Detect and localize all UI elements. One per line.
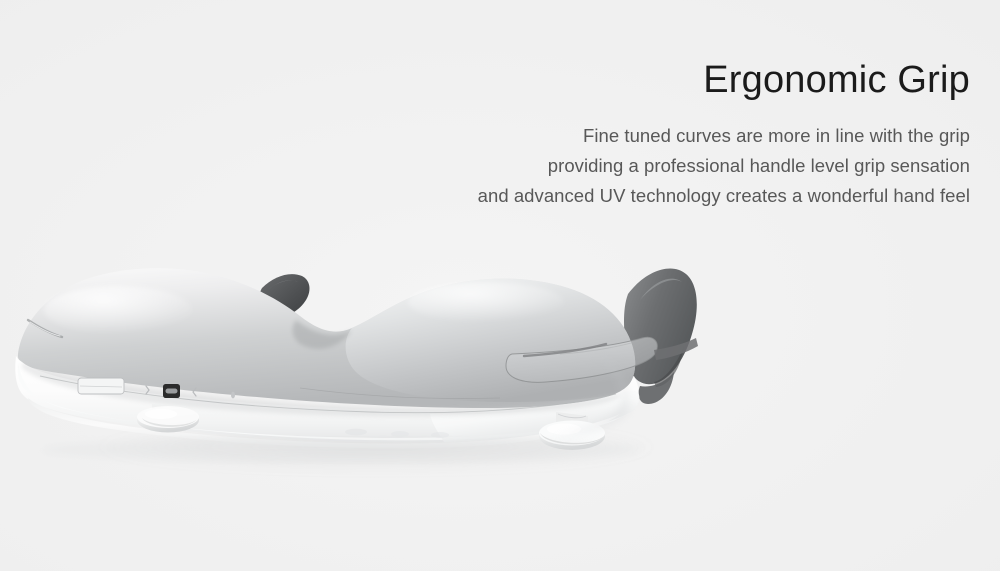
side-button-left[interactable] bbox=[78, 378, 124, 394]
product-image-game-controller bbox=[0, 236, 760, 506]
floor-reflection bbox=[40, 438, 640, 462]
description-line-3: and advanced UV technology creates a won… bbox=[330, 181, 970, 211]
description-line-1: Fine tuned curves are more in line with … bbox=[330, 121, 970, 151]
copy-block: Ergonomic Grip Fine tuned curves are mor… bbox=[330, 58, 970, 211]
description-line-2: providing a professional handle level gr… bbox=[330, 151, 970, 181]
product-feature-banner: Ergonomic Grip Fine tuned curves are mor… bbox=[0, 0, 1000, 571]
description-text: Fine tuned curves are more in line with … bbox=[330, 121, 970, 211]
side-button-right[interactable] bbox=[231, 392, 235, 399]
page-title: Ergonomic Grip bbox=[330, 58, 970, 103]
usb-c-port bbox=[163, 384, 180, 398]
